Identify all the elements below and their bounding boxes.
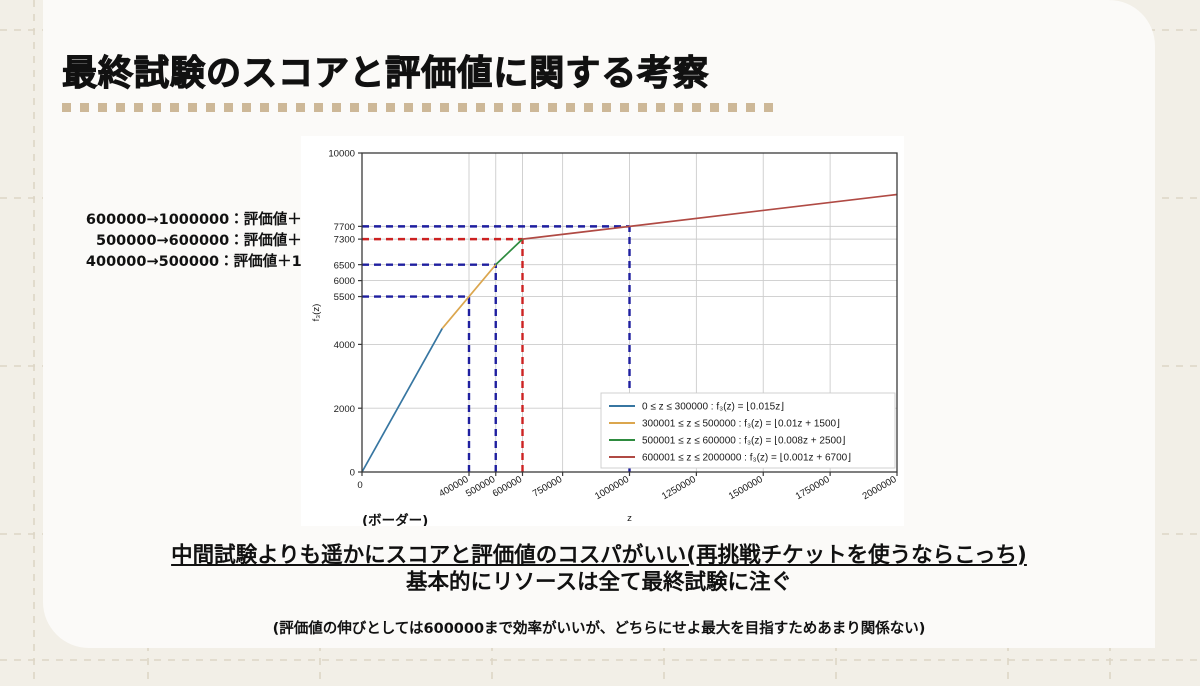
plot-legend: 0 ≤ z ≤ 300000 : f₃(z) = ⌊0.015z⌋300001 … xyxy=(601,393,895,468)
svg-text:0: 0 xyxy=(350,468,355,479)
caption-line-2: 基本的にリソースは全て最終試験に注ぐ xyxy=(43,569,1155,597)
title-underline-decoration xyxy=(62,103,779,112)
svg-text:4000: 4000 xyxy=(334,340,355,351)
svg-text:6000: 6000 xyxy=(334,276,355,287)
svg-text:5500: 5500 xyxy=(334,292,355,303)
svg-text:10000: 10000 xyxy=(328,149,355,160)
svg-text:7300: 7300 xyxy=(334,235,355,246)
caption-block: 中間試験よりも遥かにスコアと評価値のコスパがいい(再挑戦チケットを使うならこっち… xyxy=(43,542,1155,638)
annotation-line-2: 500000→600000：評価値＋800 xyxy=(77,231,332,252)
svg-text:6500: 6500 xyxy=(334,260,355,271)
annotation-line-1: 600000→1000000：評価値＋400 xyxy=(77,210,332,231)
page-title: 最終試験のスコアと評価値に関する考察 xyxy=(62,45,1062,96)
annotation-block: 600000→1000000：評価値＋400 500000→600000：評価値… xyxy=(77,210,332,273)
svg-text:2000: 2000 xyxy=(334,404,355,415)
svg-text:300001 ≤ z ≤ 500000 : f₃(z) =: 300001 ≤ z ≤ 500000 : f₃(z) = ⌊0.01z + 1… xyxy=(642,419,840,430)
annotation-line-3: 400000→500000：評価値＋1000 xyxy=(77,252,332,273)
svg-text:f₃(z): f₃(z) xyxy=(311,304,322,322)
svg-text:7700: 7700 xyxy=(334,222,355,233)
svg-text:(ボーダー): (ボーダー) xyxy=(362,512,428,526)
chart-figure-card: 0200040005500600065007300770010000 04000… xyxy=(301,136,904,526)
svg-text:0 ≤ z ≤ 300000 : f₃(z) = ⌊0.01: 0 ≤ z ≤ 300000 : f₃(z) = ⌊0.015z⌋ xyxy=(642,402,784,413)
caption-note: (評価値の伸びとしては600000まで効率がいいが、どちらにせよ最大を目指すため… xyxy=(43,617,1155,638)
caption-line-1: 中間試験よりも遥かにスコアと評価値のコスパがいい(再挑戦チケットを使うならこっち… xyxy=(43,542,1155,569)
svg-text:500001 ≤ z ≤ 600000 : f₃(z) =: 500001 ≤ z ≤ 600000 : f₃(z) = ⌊0.008z + … xyxy=(642,436,846,447)
svg-text:0: 0 xyxy=(357,480,362,491)
title-block: 最終試験のスコアと評価値に関する考察 xyxy=(62,45,1062,112)
function-plot: 0200040005500600065007300770010000 04000… xyxy=(301,136,904,526)
svg-text:600001 ≤ z ≤ 2000000 : f₃(z) =: 600001 ≤ z ≤ 2000000 : f₃(z) = ⌊0.001z +… xyxy=(642,453,851,464)
svg-text:z: z xyxy=(627,513,632,524)
